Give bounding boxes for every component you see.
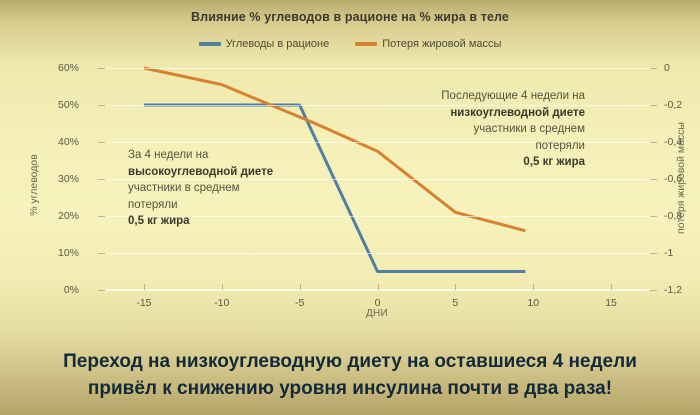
x-axis-tick-label: -10: [214, 297, 229, 309]
legend-swatch-carbs: [199, 42, 221, 46]
annotation-low-carb: Последующие 4 недели на низкоуглеводной …: [340, 88, 585, 171]
x-axis-tick: [300, 284, 301, 290]
y-axis-right-tick-label: -1: [664, 247, 673, 259]
x-axis-tick: [533, 284, 534, 290]
legend-swatch-fatloss: [355, 42, 377, 46]
gridline: [105, 253, 650, 254]
x-axis-tick: [144, 284, 145, 290]
chart-poster: Влияние % углеводов в рационе на % жира …: [0, 0, 700, 415]
x-axis-tick-label: -5: [295, 297, 304, 309]
caption-banner: Переход на низкоуглеводную диету на оста…: [0, 335, 700, 415]
legend-item-fatloss: Потеря жировой массы: [355, 38, 501, 50]
y-axis-right-tick-label: -0,6: [664, 173, 682, 185]
annotation-left-line5: 0,5 кг жира: [128, 215, 190, 227]
x-axis-tick: [455, 284, 456, 290]
annotation-right-line3: участники в среднем: [473, 123, 585, 135]
y-axis-left-tick: [98, 105, 105, 106]
annotation-right-line5: 0,5 кг жира: [523, 156, 585, 168]
y-axis-right-tick: [650, 253, 657, 254]
x-axis-tick-label: 0: [375, 297, 381, 309]
y-axis-left-tick: [98, 142, 105, 143]
y-axis-left-tick-label: 30%: [58, 173, 79, 185]
y-axis-left-tick-label: 20%: [58, 210, 79, 222]
x-axis-tick-label: 15: [605, 297, 617, 309]
y-axis-left-tick: [98, 290, 105, 291]
y-axis-right-tick-label: -0,4: [664, 136, 682, 148]
annotation-right-line1: Последующие 4 недели на: [441, 90, 585, 102]
y-axis-right-tick: [650, 216, 657, 217]
y-axis-left-tick-label: 50%: [58, 99, 79, 111]
y-axis-left-tick-label: 10%: [58, 247, 79, 259]
gridline: [105, 68, 650, 69]
y-axis-left-tick: [98, 253, 105, 254]
y-axis-right-tick-label: -0,2: [664, 99, 682, 111]
chart-title: Влияние % углеводов в рационе на % жира …: [0, 10, 700, 24]
x-axis-tick: [222, 284, 223, 290]
x-axis-tick: [611, 284, 612, 290]
chart-legend: Углеводы в рационе Потеря жировой массы: [0, 38, 700, 50]
y-axis-left-tick-label: 0%: [64, 284, 79, 296]
y-axis-right-tick-label: -1,2: [664, 284, 682, 296]
annotation-left-line1: За 4 недели на: [128, 149, 208, 161]
y-axis-right-tick: [650, 105, 657, 106]
x-axis-tick-label: 10: [527, 297, 539, 309]
annotation-right-line4: потеряли: [535, 140, 585, 152]
x-axis-title: ДНИ: [366, 308, 388, 319]
y-axis-right-tick: [650, 68, 657, 69]
y-axis-right-tick-label: 0: [664, 62, 670, 74]
legend-label-carbs: Углеводы в рационе: [226, 38, 330, 50]
y-axis-left-tick-label: 60%: [58, 62, 79, 74]
annotation-right-line2: низкоуглеводной диете: [450, 107, 585, 119]
y-axis-right-tick-label: -0,8: [664, 210, 682, 222]
annotation-left-line4: потеряли: [128, 199, 178, 211]
legend-item-carbs: Углеводы в рационе: [199, 38, 330, 50]
y-axis-left-tick: [98, 179, 105, 180]
y-axis-right-tick: [650, 142, 657, 143]
y-axis-left-title: % углеводов: [28, 154, 40, 216]
legend-label-fatloss: Потеря жировой массы: [382, 38, 501, 50]
x-axis-tick-label: -15: [136, 297, 151, 309]
y-axis-right-tick: [650, 290, 657, 291]
x-axis-tick-label: 5: [452, 297, 458, 309]
annotation-left-line2: высокоуглеводной диете: [128, 166, 273, 178]
x-axis-tick: [378, 284, 379, 290]
y-axis-left-tick: [98, 216, 105, 217]
caption-line-1: Переход на низкоуглеводную диету на оста…: [63, 348, 637, 375]
annotation-high-carb: За 4 недели на высокоуглеводной диете уч…: [128, 147, 343, 230]
gridline: [105, 290, 650, 291]
caption-line-2: привёл к снижению уровня инсулина почти …: [88, 375, 612, 402]
annotation-left-line3: участники в среднем: [128, 182, 240, 194]
y-axis-left-tick: [98, 68, 105, 69]
y-axis-left-tick-label: 40%: [58, 136, 79, 148]
y-axis-right-tick: [650, 179, 657, 180]
